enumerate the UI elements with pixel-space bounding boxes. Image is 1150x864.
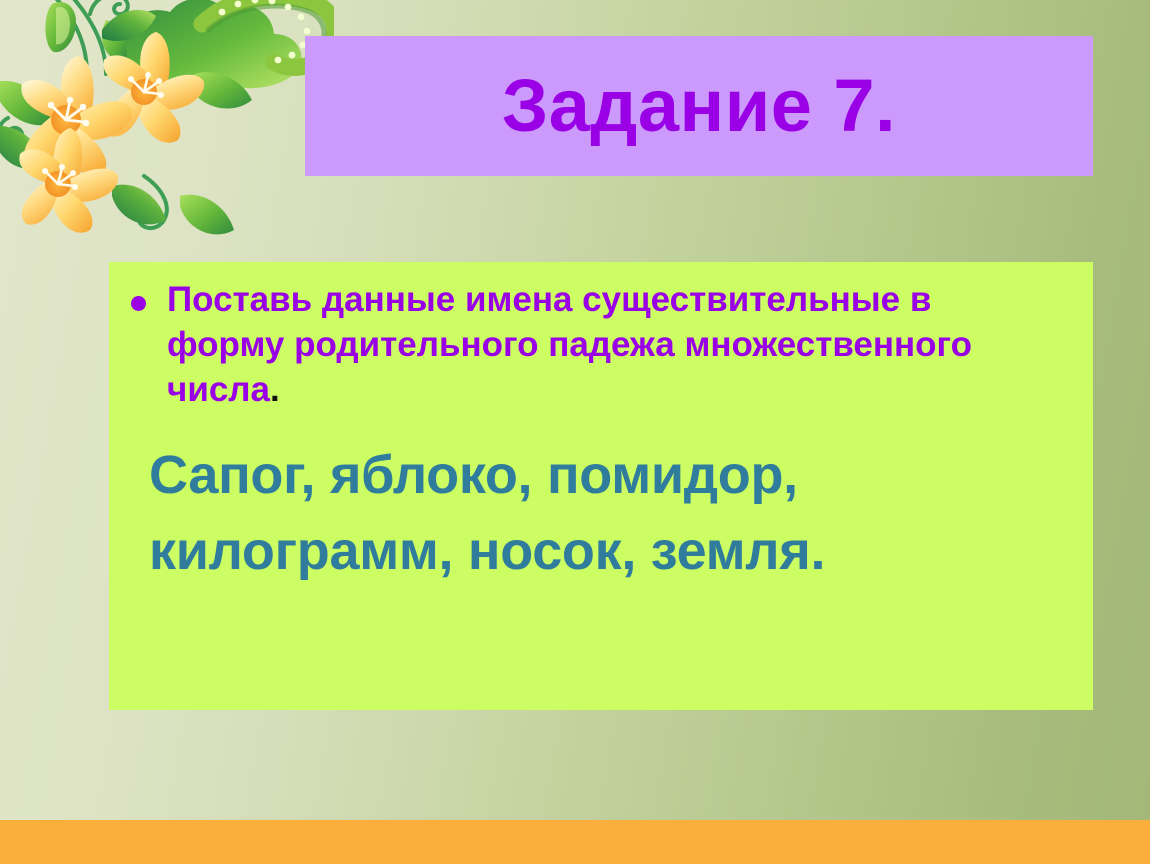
flower-bloom [103,32,204,143]
word-list: Сапог, яблоко, помидор, килограмм, носок… [127,438,1075,589]
bullet-marker [127,278,167,311]
scalloped-leaf-shape [112,0,302,94]
leaves [0,10,252,235]
flower-bloom [19,128,118,233]
flower-bloom [21,56,132,175]
word-list-line-2: килограмм, носок, земля. [149,514,1075,590]
task-instruction: Поставь данные имена существительные в ф… [167,278,1047,412]
slide-canvas: Задание 7. Поставь данные имена существи… [0,0,1150,864]
title-plate: Задание 7. [305,36,1093,176]
content-plate: Поставь данные имена существительные в ф… [109,262,1093,710]
task-instruction-text: Поставь данные имена существительные в ф… [167,280,972,409]
flower-bud [45,2,76,52]
floral-corner-ornament [0,0,334,258]
task-terminal-period: . [270,370,280,409]
task-bullet-line: Поставь данные имена существительные в ф… [127,278,1075,412]
bottom-orange-band [0,820,1150,864]
page-title: Задание 7. [502,69,896,143]
tendril-curls [0,0,167,228]
word-list-line-1: Сапог, яблоко, помидор, [149,438,1075,514]
